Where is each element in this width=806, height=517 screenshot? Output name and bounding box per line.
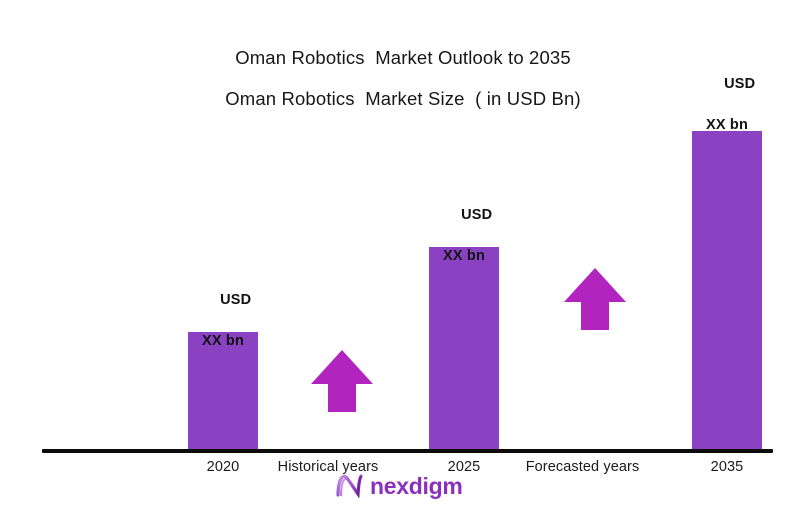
plot-area: USD XX bn USD XX bn USD XX bn bbox=[0, 0, 806, 517]
bar-label-2020-line1: USD bbox=[220, 292, 251, 308]
chart-canvas: Oman Robotics Market Outlook to 2035 Oma… bbox=[0, 0, 806, 517]
bar-label-2035-line1: USD bbox=[724, 76, 755, 92]
nexdigm-wave-n-icon bbox=[334, 470, 364, 503]
bar-2035[interactable] bbox=[692, 131, 762, 450]
bar-label-2020-line2: XX bn bbox=[178, 334, 268, 349]
nexdigm-logo: nexdigm bbox=[334, 470, 462, 503]
bar-label-2035: USD XX bn bbox=[682, 62, 772, 161]
nexdigm-logo-text: nexdigm bbox=[370, 475, 462, 498]
bar-label-2025-line1: USD bbox=[461, 207, 492, 223]
up-arrow-historical-icon bbox=[309, 348, 375, 414]
bar-label-2025-line2: XX bn bbox=[419, 249, 509, 264]
x-axis-line bbox=[42, 449, 773, 453]
bar-label-2035-line2: XX bn bbox=[682, 118, 772, 133]
up-arrow-forecasted-icon bbox=[562, 266, 628, 332]
axis-label-2035: 2035 bbox=[682, 459, 772, 475]
bar-label-2020: USD XX bn bbox=[178, 278, 268, 377]
axis-label-forecasted-years: Forecasted years bbox=[505, 459, 660, 475]
bar-label-2025: USD XX bn bbox=[419, 193, 509, 292]
